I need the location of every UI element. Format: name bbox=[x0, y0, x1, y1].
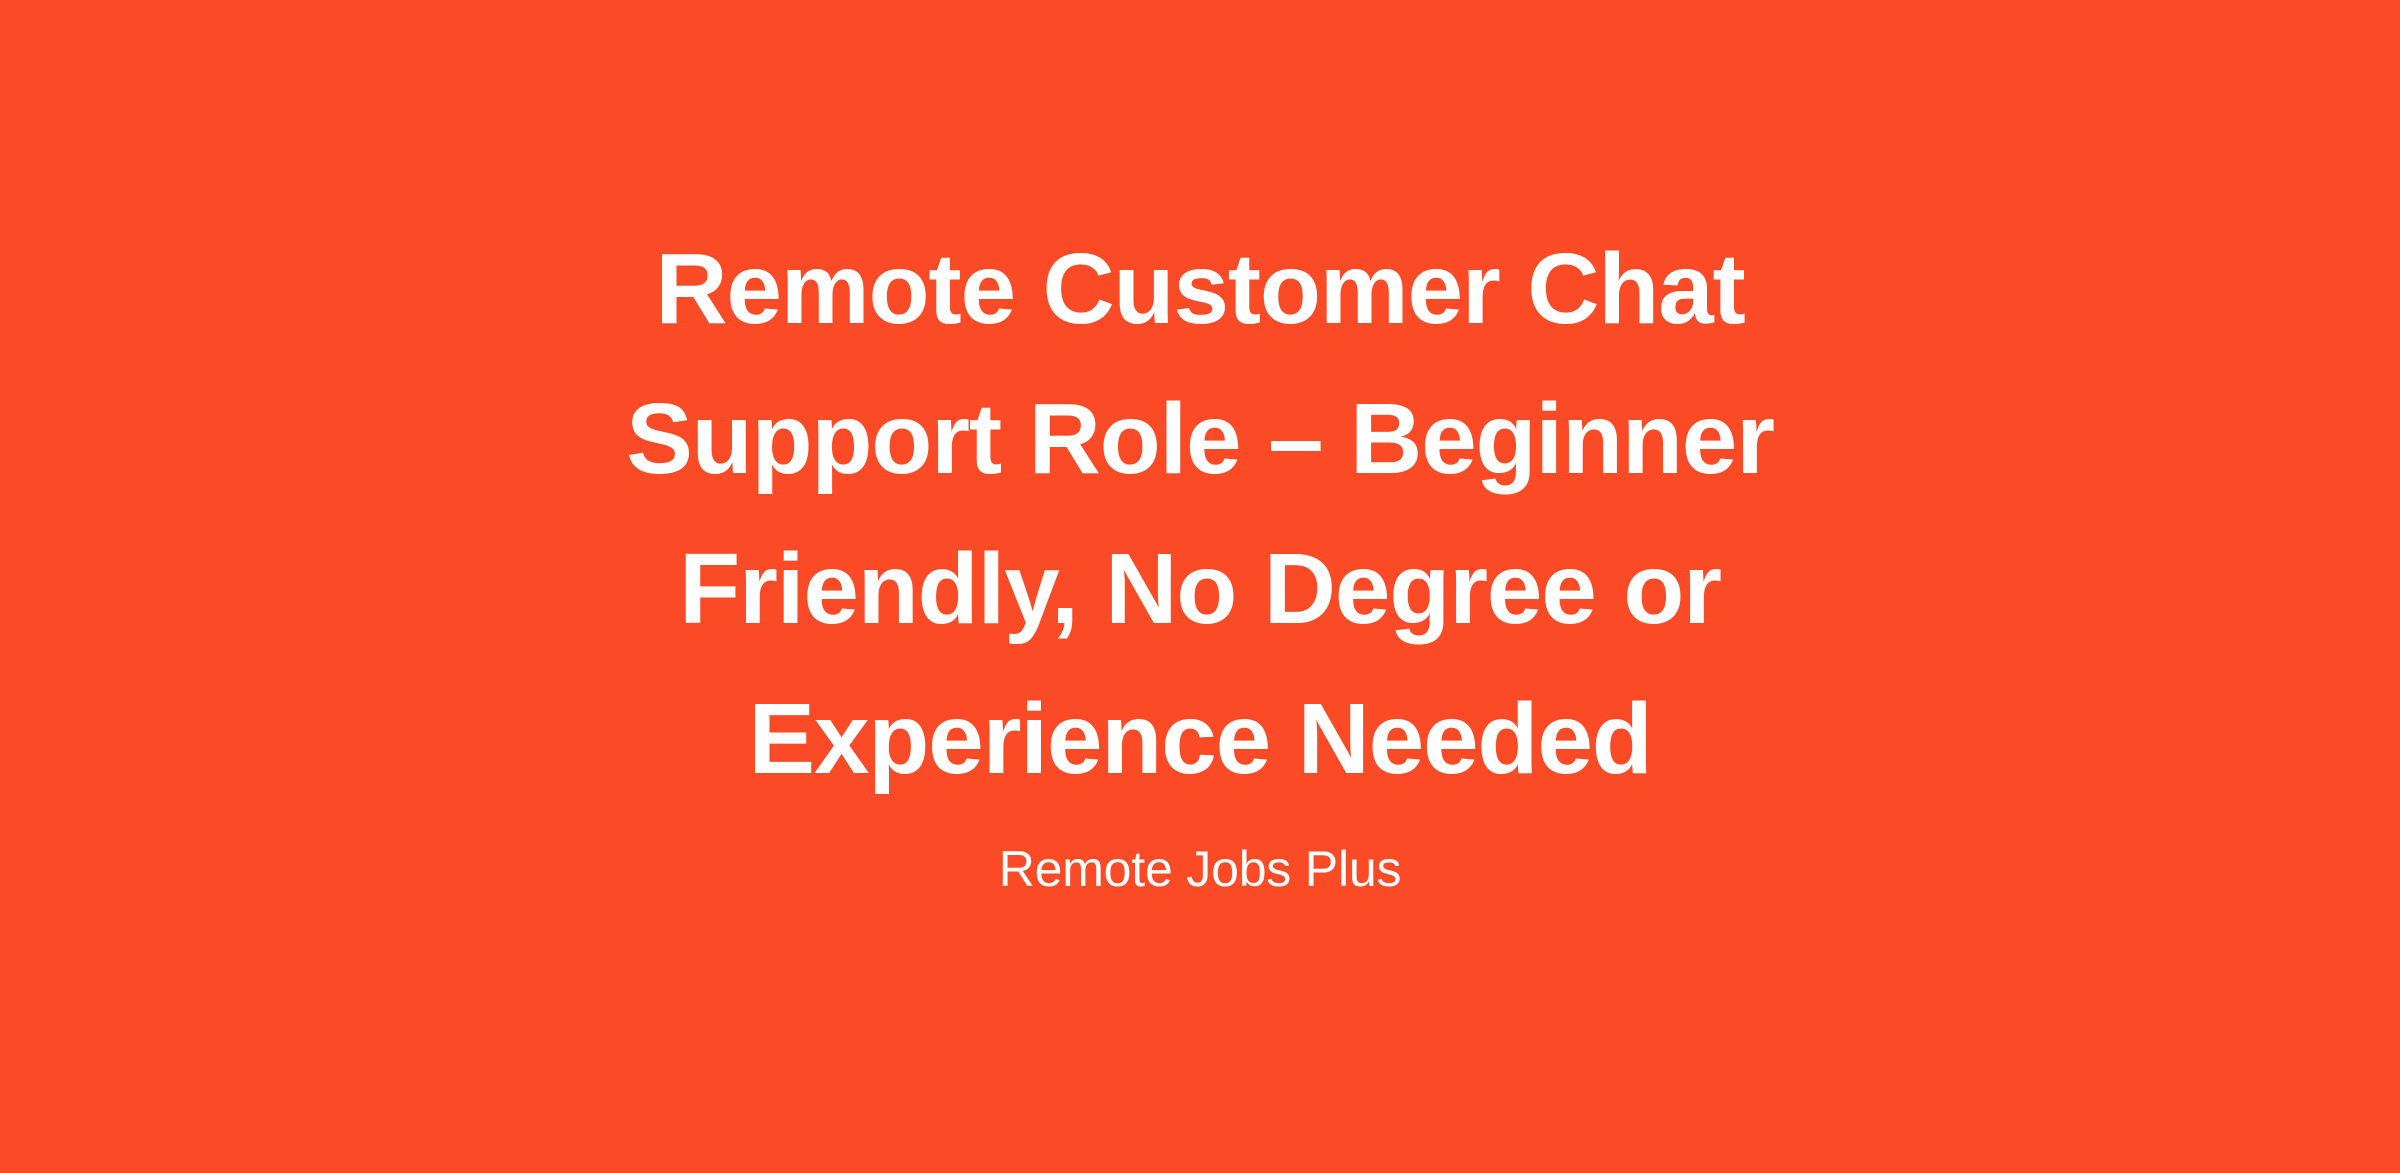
site-name-subtitle: Remote Jobs Plus bbox=[535, 814, 1865, 900]
page-title: Remote Customer Chat Support Role – Begi… bbox=[535, 214, 1865, 814]
card-text-block: Remote Customer Chat Support Role – Begi… bbox=[535, 214, 1865, 900]
social-share-card: Remote Customer Chat Support Role – Begi… bbox=[0, 0, 2400, 1173]
